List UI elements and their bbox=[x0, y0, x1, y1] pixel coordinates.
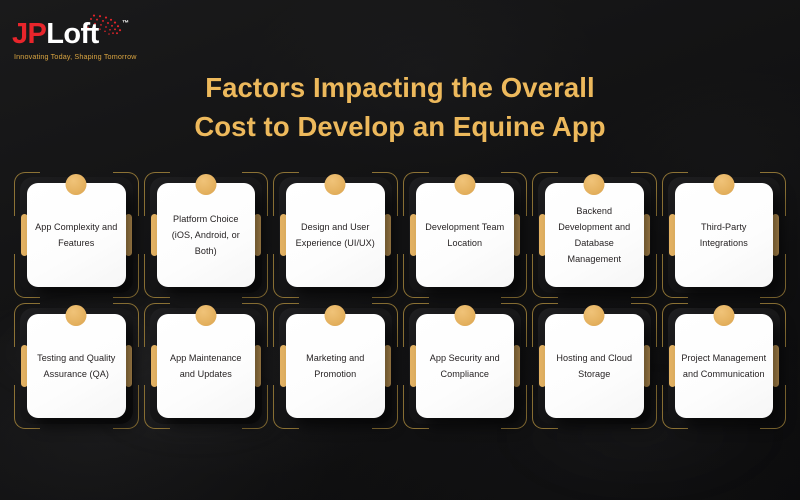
factors-grid: App Complexity and Features Platform Cho… bbox=[14, 172, 786, 429]
factor-card-backend-development-and-database[interactable]: Backend Development and Database Managem… bbox=[532, 172, 657, 298]
card-tab-right bbox=[513, 345, 520, 387]
factor-label: App Security and Compliance bbox=[421, 350, 510, 382]
factor-label: Testing and Quality Assurance (QA) bbox=[32, 350, 121, 382]
card-tab-right bbox=[772, 345, 779, 387]
trademark-symbol: ™ bbox=[122, 20, 129, 27]
page-title: Factors Impacting the Overall Cost to De… bbox=[0, 68, 800, 146]
brand-tagline: Innovating Today, Shaping Tomorrow bbox=[14, 52, 137, 61]
card-tab-right bbox=[384, 345, 391, 387]
logo-text-jp: JP bbox=[12, 18, 46, 50]
card-knob-icon bbox=[713, 305, 734, 326]
factor-label: Backend Development and Database Managem… bbox=[550, 203, 639, 268]
card-knob-icon bbox=[584, 174, 605, 195]
factor-card-platform-choice[interactable]: Platform Choice (iOS, Android, or Both) bbox=[144, 172, 269, 298]
logo-wordmark: JPLoft bbox=[12, 20, 99, 49]
card-tab-right bbox=[254, 214, 261, 256]
card-knob-icon bbox=[713, 174, 734, 195]
factor-label: Marketing and Promotion bbox=[291, 350, 380, 382]
card-surface[interactable]: App Maintenance and Updates bbox=[157, 314, 256, 418]
card-knob-icon bbox=[584, 305, 605, 326]
card-surface[interactable]: Platform Choice (iOS, Android, or Both) bbox=[157, 183, 256, 287]
card-surface[interactable]: Testing and Quality Assurance (QA) bbox=[27, 314, 126, 418]
factor-label: App Complexity and Features bbox=[32, 219, 121, 251]
factor-card-app-complexity-and-features[interactable]: App Complexity and Features bbox=[14, 172, 139, 298]
card-knob-icon bbox=[195, 305, 216, 326]
card-knob-icon bbox=[66, 305, 87, 326]
card-tab-right bbox=[513, 214, 520, 256]
factor-label: Hosting and Cloud Storage bbox=[550, 350, 639, 382]
card-surface[interactable]: Development Team Location bbox=[416, 183, 515, 287]
factor-label: Development Team Location bbox=[421, 219, 510, 251]
factor-card-design-and-user-experience[interactable]: Design and User Experience (UI/UX) bbox=[273, 172, 398, 298]
card-knob-icon bbox=[325, 174, 346, 195]
card-knob-icon bbox=[454, 174, 475, 195]
page-title-line-2: Cost to Develop an Equine App bbox=[0, 107, 800, 146]
logo-text-loft: Loft bbox=[46, 18, 98, 50]
card-surface[interactable]: Hosting and Cloud Storage bbox=[545, 314, 644, 418]
factor-label: Platform Choice (iOS, Android, or Both) bbox=[162, 211, 251, 260]
factor-label: App Maintenance and Updates bbox=[162, 350, 251, 382]
factor-card-app-security-and-compliance[interactable]: App Security and Compliance bbox=[403, 303, 528, 429]
infographic-poster: JPLoft ™ Innovating Today, Shaping Tomor… bbox=[0, 0, 800, 500]
card-surface[interactable]: App Security and Compliance bbox=[416, 314, 515, 418]
brand-logo: JPLoft ™ Innovating Today, Shaping Tomor… bbox=[12, 14, 152, 64]
factor-card-marketing-and-promotion[interactable]: Marketing and Promotion bbox=[273, 303, 398, 429]
card-tab-right bbox=[384, 214, 391, 256]
factor-card-hosting-and-cloud-storage[interactable]: Hosting and Cloud Storage bbox=[532, 303, 657, 429]
card-tab-right bbox=[772, 214, 779, 256]
card-surface[interactable]: Backend Development and Database Managem… bbox=[545, 183, 644, 287]
factor-card-development-team-location[interactable]: Development Team Location bbox=[403, 172, 528, 298]
page-title-line-1: Factors Impacting the Overall bbox=[0, 68, 800, 107]
card-surface[interactable]: Marketing and Promotion bbox=[286, 314, 385, 418]
factor-card-testing-and-quality-assurance[interactable]: Testing and Quality Assurance (QA) bbox=[14, 303, 139, 429]
card-surface[interactable]: Design and User Experience (UI/UX) bbox=[286, 183, 385, 287]
card-knob-icon bbox=[454, 305, 475, 326]
card-surface[interactable]: Project Management and Communication bbox=[675, 314, 774, 418]
card-tab-right bbox=[643, 345, 650, 387]
card-tab-right bbox=[125, 345, 132, 387]
factor-card-project-management-and-communication[interactable]: Project Management and Communication bbox=[662, 303, 787, 429]
card-knob-icon bbox=[66, 174, 87, 195]
card-surface[interactable]: App Complexity and Features bbox=[27, 183, 126, 287]
card-tab-right bbox=[254, 345, 261, 387]
card-knob-icon bbox=[325, 305, 346, 326]
card-surface[interactable]: Third-Party Integrations bbox=[675, 183, 774, 287]
card-knob-icon bbox=[195, 174, 216, 195]
factor-card-app-maintenance-and-updates[interactable]: App Maintenance and Updates bbox=[144, 303, 269, 429]
factor-label: Third-Party Integrations bbox=[680, 219, 769, 251]
card-tab-right bbox=[125, 214, 132, 256]
factor-label: Design and User Experience (UI/UX) bbox=[291, 219, 380, 251]
card-tab-right bbox=[643, 214, 650, 256]
factor-label: Project Management and Communication bbox=[680, 350, 769, 382]
factor-card-third-party-integrations[interactable]: Third-Party Integrations bbox=[662, 172, 787, 298]
